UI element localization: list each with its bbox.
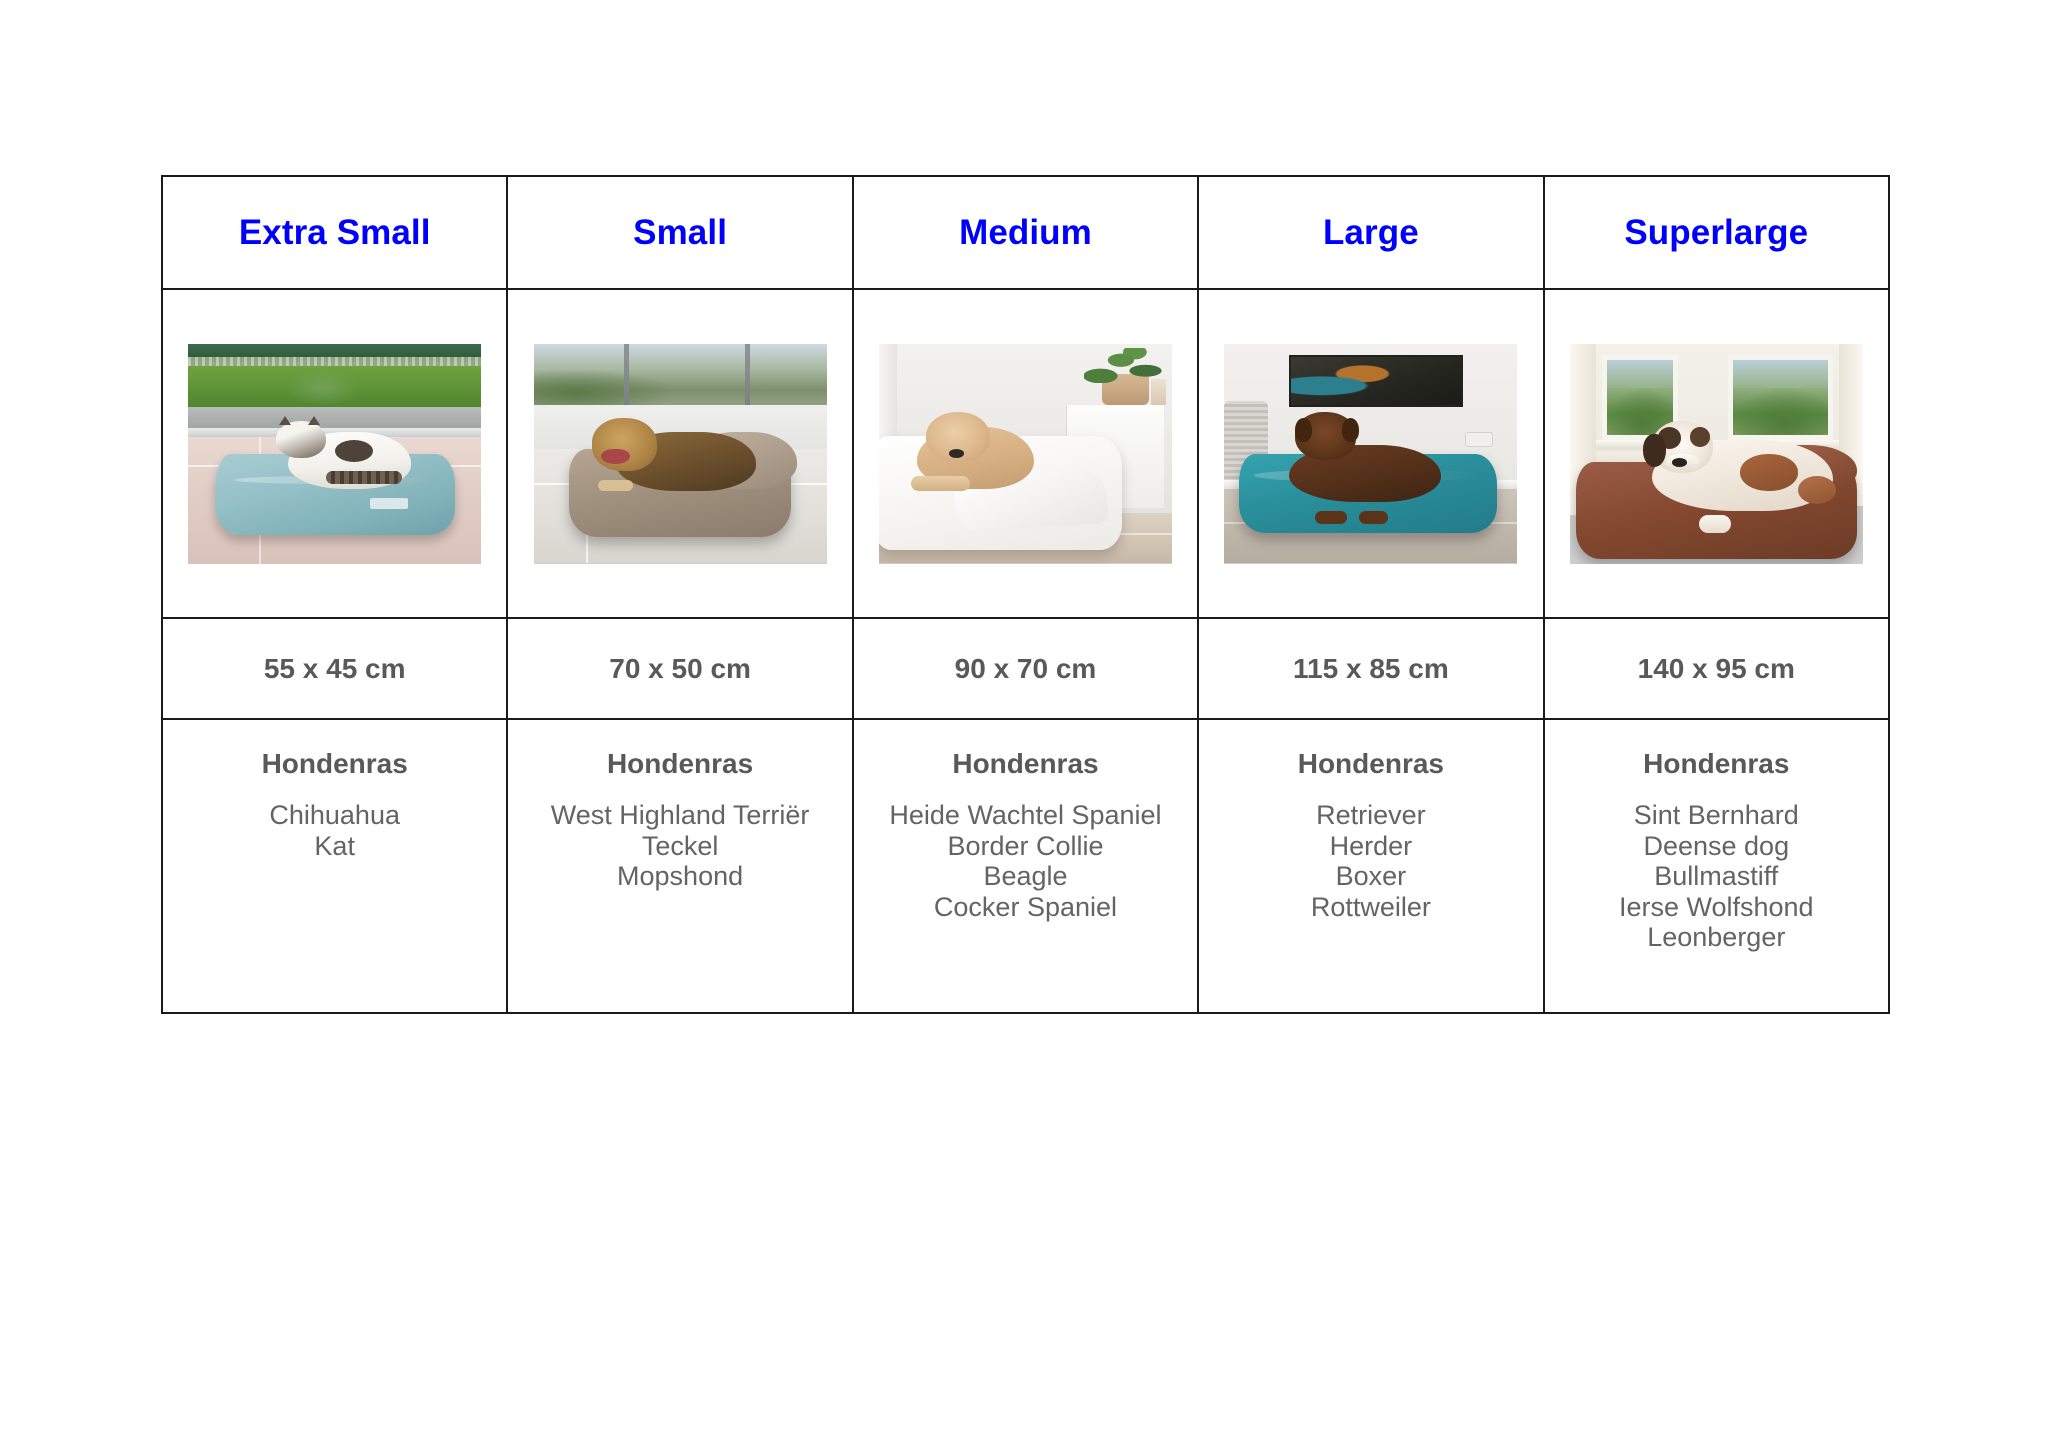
breeds-block: Hondenras RetrieverHerderBoxerRottweiler: [1199, 720, 1542, 922]
breeds-list: Sint BernhardDeense dogBullmastiffIerse …: [1545, 800, 1888, 953]
breeds-list: West Highland TerriërTeckelMopshond: [508, 800, 851, 892]
breed-item: Teckel: [508, 831, 851, 862]
breeds-list: RetrieverHerderBoxerRottweiler: [1199, 800, 1542, 922]
breeds-title: Hondenras: [1199, 750, 1542, 778]
cell-size-name-medium: Medium: [853, 176, 1198, 289]
house-plant: [1084, 348, 1166, 383]
cat-fur-patch: [335, 440, 373, 462]
table-row-size-names: Extra Small Small Medium Large Superlarg…: [162, 176, 1889, 289]
cockapoo-nose: [949, 449, 964, 458]
terrier-head: [592, 418, 656, 471]
breed-item: Bullmastiff: [1545, 861, 1888, 892]
breed-item: Leonberger: [1545, 922, 1888, 953]
photo-wrapper: [1545, 290, 1888, 617]
breeds-block: Hondenras Heide Wachtel SpanielBorder Co…: [854, 720, 1197, 922]
cell-breeds-small: Hondenras West Highland TerriërTeckelMop…: [507, 719, 852, 1013]
cell-breeds-extra-small: Hondenras ChihuahuaKat: [162, 719, 507, 1013]
breed-item: Border Collie: [854, 831, 1197, 862]
breeds-title: Hondenras: [508, 750, 851, 778]
dimensions-label: 70 x 50 cm: [508, 655, 851, 683]
bed-label-tag: [370, 498, 408, 509]
candle: [1151, 379, 1166, 405]
product-photo-small: [534, 344, 827, 564]
saint-bernard-paw: [1699, 515, 1731, 533]
size-name-label: Large: [1199, 215, 1542, 250]
cell-breeds-large: Hondenras RetrieverHerderBoxerRottweiler: [1198, 719, 1543, 1013]
saint-bernard-nose: [1672, 458, 1687, 467]
breeds-list: Heide Wachtel SpanielBorder CollieBeagle…: [854, 800, 1197, 922]
cat-ear-right: [308, 416, 320, 425]
cell-photo-extra-small: [162, 289, 507, 618]
photo-wrapper: [1199, 290, 1542, 617]
cell-size-name-extra-small: Extra Small: [162, 176, 507, 289]
wall-artwork: [1289, 355, 1463, 407]
cell-breeds-medium: Hondenras Heide Wachtel SpanielBorder Co…: [853, 719, 1198, 1013]
breeds-block: Hondenras West Highland TerriërTeckelMop…: [508, 720, 851, 892]
breed-item: Boxer: [1199, 861, 1542, 892]
breed-item: Cocker Spaniel: [854, 892, 1197, 923]
size-name-label: Superlarge: [1545, 215, 1888, 250]
cell-size-name-small: Small: [507, 176, 852, 289]
cat-ear-left: [279, 416, 291, 425]
dimensions-label: 55 x 45 cm: [163, 655, 506, 683]
labrador-paw-right: [1359, 511, 1388, 524]
cell-photo-medium: [853, 289, 1198, 618]
photo-wrapper: [854, 290, 1197, 617]
size-name-label: Extra Small: [163, 215, 506, 250]
saint-bernard-fur-patch: [1740, 454, 1799, 491]
breed-item: West Highland Terriër: [508, 800, 851, 831]
hedge-background: [188, 344, 481, 368]
saint-bernard-eye-mask-right: [1690, 427, 1711, 447]
dimensions-label: 90 x 70 cm: [854, 655, 1197, 683]
product-photo-extra-small: [188, 344, 481, 564]
breed-item: Chihuahua: [163, 800, 506, 831]
cockapoo-paws: [911, 476, 970, 491]
breed-item: Rottweiler: [1199, 892, 1542, 923]
terrier-paw: [598, 480, 633, 491]
cell-dimensions-medium: 90 x 70 cm: [853, 618, 1198, 719]
saint-bernard-fur-patch-two: [1798, 476, 1836, 505]
breeds-title: Hondenras: [854, 750, 1197, 778]
cell-size-name-large: Large: [1198, 176, 1543, 289]
product-photo-large: [1224, 344, 1517, 564]
cell-dimensions-superlarge: 140 x 95 cm: [1544, 618, 1889, 719]
breed-item: Herder: [1199, 831, 1542, 862]
product-photo-medium: [879, 344, 1172, 564]
breed-item: Ierse Wolfshond: [1545, 892, 1888, 923]
cell-dimensions-small: 70 x 50 cm: [507, 618, 852, 719]
cat-tail: [326, 471, 402, 484]
cell-photo-small: [507, 289, 852, 618]
breed-item: Beagle: [854, 861, 1197, 892]
photo-wrapper: [508, 290, 851, 617]
size-name-label: Small: [508, 215, 851, 250]
breed-item: Sint Bernhard: [1545, 800, 1888, 831]
table-row-photos: [162, 289, 1889, 618]
table-row-dimensions: 55 x 45 cm 70 x 50 cm 90 x 70 cm 115 x 8…: [162, 618, 1889, 719]
cell-size-name-superlarge: Superlarge: [1544, 176, 1889, 289]
terrace-paving: [188, 407, 481, 429]
table-row-breeds: Hondenras ChihuahuaKat Hondenras West Hi…: [162, 719, 1889, 1013]
document-page: Extra Small Small Medium Large Superlarg…: [0, 0, 2048, 1448]
wall-socket: [1465, 432, 1493, 447]
breed-item: Deense dog: [1545, 831, 1888, 862]
labrador-ear-left: [1295, 418, 1313, 442]
dog-bed-size-table: Extra Small Small Medium Large Superlarg…: [161, 175, 1890, 1014]
dimensions-label: 115 x 85 cm: [1199, 655, 1542, 683]
dimensions-label: 140 x 95 cm: [1545, 655, 1888, 683]
labrador-paw-left: [1315, 511, 1347, 524]
breeds-block: Hondenras ChihuahuaKat: [163, 720, 506, 861]
labrador-ear-right: [1342, 418, 1360, 442]
lawn: [188, 366, 481, 410]
photo-wrapper: [163, 290, 506, 617]
breed-item: Mopshond: [508, 861, 851, 892]
cell-photo-superlarge: [1544, 289, 1889, 618]
product-photo-superlarge: [1570, 344, 1863, 564]
window-view: [534, 344, 827, 410]
cell-dimensions-extra-small: 55 x 45 cm: [162, 618, 507, 719]
breeds-title: Hondenras: [1545, 750, 1888, 778]
breeds-list: ChihuahuaKat: [163, 800, 506, 861]
breeds-title: Hondenras: [163, 750, 506, 778]
size-name-label: Medium: [854, 215, 1197, 250]
breed-item: Kat: [163, 831, 506, 862]
breed-item: Heide Wachtel Spaniel: [854, 800, 1197, 831]
breed-item: Retriever: [1199, 800, 1542, 831]
cell-breeds-superlarge: Hondenras Sint BernhardDeense dogBullmas…: [1544, 719, 1889, 1013]
breeds-block: Hondenras Sint BernhardDeense dogBullmas…: [1545, 720, 1888, 953]
saint-bernard-ear: [1643, 434, 1666, 467]
cell-photo-large: [1198, 289, 1543, 618]
cell-dimensions-large: 115 x 85 cm: [1198, 618, 1543, 719]
cat-head: [276, 421, 326, 458]
window-right: [1728, 355, 1833, 441]
